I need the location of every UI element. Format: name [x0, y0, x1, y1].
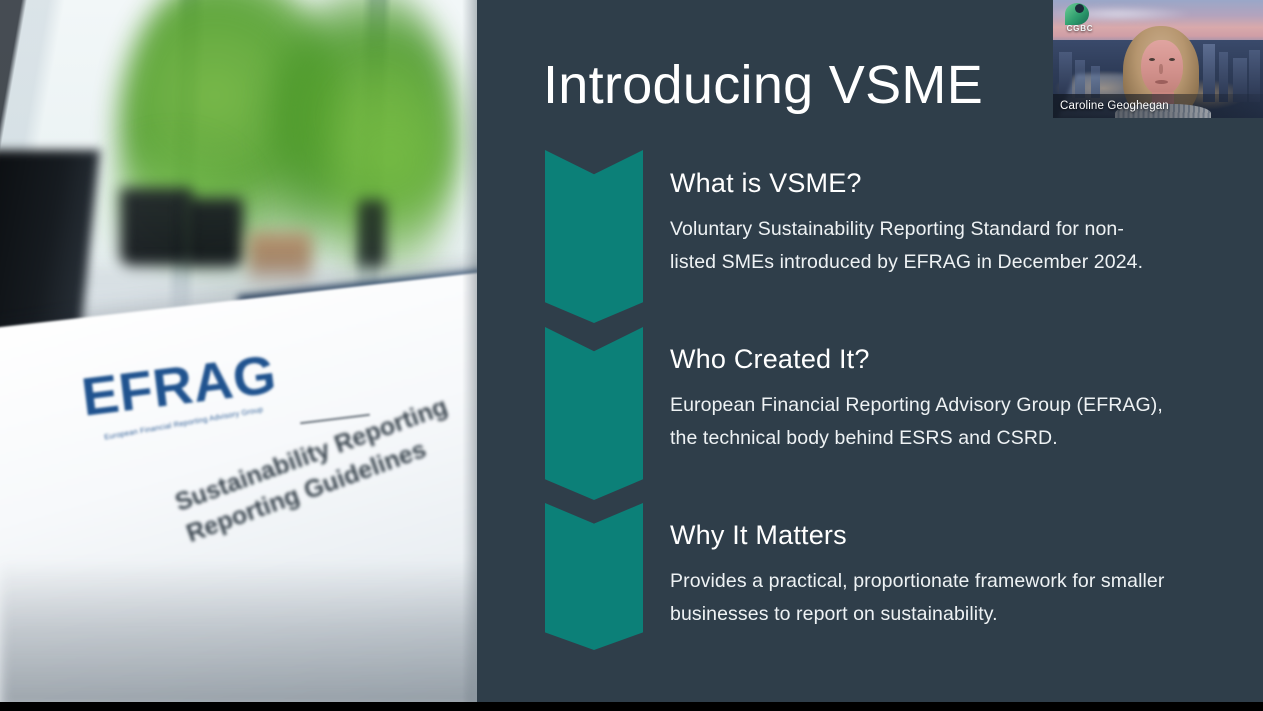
avatar-eye-right	[1169, 58, 1175, 61]
bottom-letterbox-strip	[0, 702, 1263, 711]
section-body-2: European Financial Reporting Advisory Gr…	[670, 389, 1190, 455]
chevron-marker-3	[545, 503, 643, 650]
photo-right-edge-fade	[462, 0, 477, 702]
content-block-why-it-matters: Why It Matters Provides a practical, pro…	[670, 520, 1170, 631]
section-body-1: Voluntary Sustainability Reporting Stand…	[670, 213, 1170, 279]
chevron-marker-2	[545, 327, 643, 500]
plant-pot-icon	[120, 188, 192, 268]
cgbc-logo-text: CGBC	[1059, 24, 1101, 33]
slide-photo: EFRAG European Financial Reporting Advis…	[0, 0, 477, 702]
section-heading-1: What is VSME?	[670, 168, 1170, 199]
content-block-what-is-vsme: What is VSME? Voluntary Sustainability R…	[670, 168, 1170, 279]
participant-name-label: Caroline Geoghegan	[1053, 100, 1169, 112]
participant-video-tile[interactable]: CGBC Caroline Geoghegan	[1053, 0, 1263, 118]
slide-stage: EFRAG European Financial Reporting Advis…	[0, 0, 1263, 711]
photo-bottom-shadow	[0, 560, 477, 702]
cgbc-logo-dot-icon	[1075, 4, 1084, 13]
section-heading-3: Why It Matters	[670, 520, 1170, 551]
plant-pot-icon	[358, 200, 386, 270]
avatar-mouth	[1155, 80, 1168, 84]
avatar-nose	[1159, 64, 1163, 74]
chevron-marker-1	[545, 150, 643, 323]
section-body-3: Provides a practical, proportionate fram…	[670, 565, 1170, 631]
content-block-who-created-it: Who Created It? European Financial Repor…	[670, 344, 1190, 455]
plant-pot-icon	[183, 198, 243, 270]
section-heading-2: Who Created It?	[670, 344, 1190, 375]
avatar-eye-left	[1149, 58, 1155, 61]
participant-name-bar: Caroline Geoghegan	[1053, 94, 1263, 118]
cgbc-logo: CGBC	[1059, 3, 1101, 35]
